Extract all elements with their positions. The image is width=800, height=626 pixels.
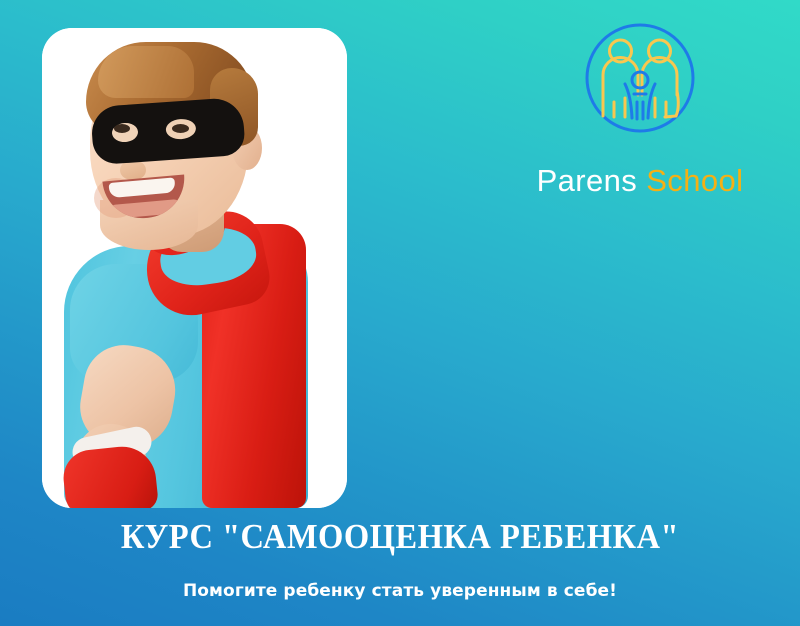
brand-name: Parens School <box>506 164 774 198</box>
promo-banner: Parens School КУРС "САМООЦЕНКА РЕБЕНКА" … <box>0 0 800 626</box>
brand-block: Parens School <box>506 18 774 198</box>
hero-photo-card <box>42 28 347 508</box>
hero-photo <box>42 28 347 508</box>
hair-fringe <box>98 46 194 98</box>
superhero-mask-icon <box>90 97 246 165</box>
eye-left <box>114 124 130 133</box>
boy-superhero-illustration <box>42 28 347 508</box>
brand-name-school: School <box>646 163 743 198</box>
course-title: КУРС "САМООЦЕНКА РЕБЕНКА" <box>28 519 772 554</box>
brand-name-parens: Parens <box>537 163 638 198</box>
course-tagline: Помогите ребенку стать уверенным в себе! <box>0 583 800 600</box>
family-circle-icon <box>580 18 700 138</box>
teeth <box>109 177 176 198</box>
eye-right <box>172 124 189 133</box>
